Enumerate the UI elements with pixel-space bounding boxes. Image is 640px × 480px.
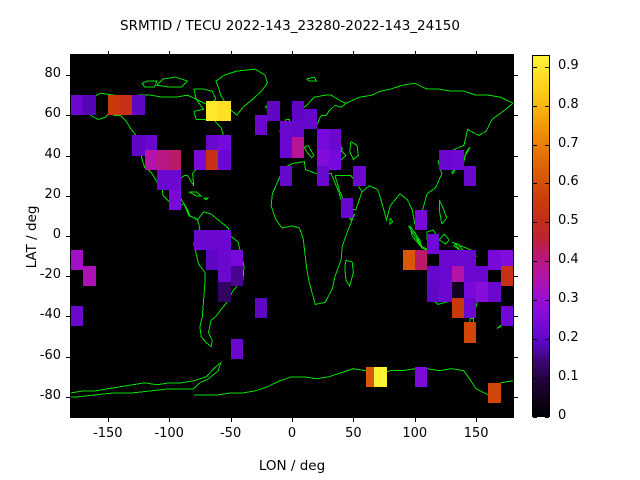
- heatmap-cell: [218, 150, 230, 170]
- heatmap-cell: [71, 95, 83, 115]
- heatmap-cell: [255, 298, 267, 318]
- x-tick-label: -100: [139, 426, 199, 441]
- x-tick-top: [169, 51, 170, 55]
- heatmap-cell: [415, 210, 427, 230]
- heatmap-cell: [464, 322, 476, 342]
- heatmap-cell: [280, 166, 292, 186]
- heatmap-cell: [304, 109, 316, 129]
- heatmap-cell: [157, 170, 169, 190]
- heatmap-cell: [194, 150, 206, 170]
- colorbar-tick-label: 0.2: [558, 330, 579, 345]
- colorbar-tick: [545, 339, 549, 340]
- heatmap-cells-layer: [71, 55, 513, 417]
- y-axis-label: LAT / deg: [24, 137, 40, 337]
- heatmap-cell: [132, 95, 144, 115]
- colorbar-tick: [533, 417, 537, 418]
- x-tick-label: 0: [262, 426, 322, 441]
- colorbar-tick-label: 0.4: [558, 252, 579, 267]
- heatmap-cell: [83, 266, 95, 286]
- colorbar-tick: [533, 300, 537, 301]
- heatmap-cell: [267, 101, 279, 121]
- y-tick-right: [514, 397, 518, 398]
- colorbar-tick: [545, 145, 549, 146]
- colorbar-tick: [545, 261, 549, 262]
- map-plot-area[interactable]: [71, 55, 513, 417]
- heatmap-cell: [71, 306, 83, 326]
- axis-spine-left: [70, 54, 71, 418]
- heatmap-cell: [231, 339, 243, 359]
- x-tick: [169, 418, 170, 422]
- colorbar-tick: [545, 378, 549, 379]
- y-tick: [66, 196, 70, 197]
- heatmap-cell: [329, 129, 341, 149]
- x-tick-label: 100: [385, 426, 445, 441]
- heatmap-cell: [317, 166, 329, 186]
- heatmap-cell: [501, 266, 513, 286]
- heatmap-cell: [427, 234, 439, 254]
- heatmap-cell: [415, 250, 427, 270]
- x-tick-label: -150: [78, 426, 138, 441]
- x-tick-top: [231, 51, 232, 55]
- heatmap-cell: [169, 150, 181, 170]
- heatmap-cell: [476, 282, 488, 302]
- x-tick-label: -50: [201, 426, 261, 441]
- heatmap-cell: [374, 367, 386, 387]
- x-tick: [476, 418, 477, 422]
- colorbar-tick-label: 0.7: [558, 136, 579, 151]
- y-tick-right: [514, 236, 518, 237]
- heatmap-cell: [464, 166, 476, 186]
- heatmap-cell: [169, 170, 181, 190]
- colorbar-tick-label: 0.1: [558, 369, 579, 384]
- heatmap-cell: [292, 137, 304, 157]
- colorbar-tick-label: 0.3: [558, 291, 579, 306]
- colorbar-tick: [533, 378, 537, 379]
- heatmap-cell: [439, 282, 451, 302]
- colorbar-tick-label: 0.6: [558, 174, 579, 189]
- colorbar-tick-label: 0.5: [558, 213, 579, 228]
- y-tick: [66, 276, 70, 277]
- x-tick-top: [108, 51, 109, 55]
- heatmap-cell: [464, 298, 476, 318]
- colorbar-tick: [533, 261, 537, 262]
- y-tick-right: [514, 75, 518, 76]
- heatmap-cell: [341, 198, 353, 218]
- colorbar-tick: [533, 145, 537, 146]
- heatmap-cell: [169, 190, 181, 210]
- y-tick-right: [514, 316, 518, 317]
- x-tick-label: 50: [323, 426, 383, 441]
- colorbar-tick: [545, 183, 549, 184]
- colorbar-tick: [545, 222, 549, 223]
- colorbar-tick: [533, 106, 537, 107]
- x-tick-top: [353, 51, 354, 55]
- heatmap-cell: [157, 150, 169, 170]
- y-tick-right: [514, 196, 518, 197]
- heatmap-cell: [292, 101, 304, 121]
- y-tick: [66, 115, 70, 116]
- colorbar-tick: [545, 417, 549, 418]
- y-tick: [66, 75, 70, 76]
- x-tick: [415, 418, 416, 422]
- y-tick: [66, 357, 70, 358]
- heatmap-cell: [488, 250, 500, 270]
- heatmap-cell: [501, 306, 513, 326]
- heatmap-cell: [452, 298, 464, 318]
- heatmap-cell: [194, 230, 206, 250]
- x-tick-top: [476, 51, 477, 55]
- y-tick-right: [514, 115, 518, 116]
- heatmap-cell: [83, 95, 95, 115]
- x-tick: [353, 418, 354, 422]
- x-tick-label: 150: [446, 426, 506, 441]
- y-tick-right: [514, 357, 518, 358]
- y-tick: [66, 156, 70, 157]
- heatmap-cell: [206, 230, 218, 250]
- heatmap-cell: [218, 101, 230, 121]
- heatmap-cell: [145, 150, 157, 170]
- colorbar-tick: [545, 67, 549, 68]
- heatmap-cell: [231, 266, 243, 286]
- y-tick-right: [514, 276, 518, 277]
- colorbar-tick-label: 0.8: [558, 97, 579, 112]
- y-tick-label: -60: [13, 348, 61, 363]
- colorbar-tick: [545, 300, 549, 301]
- colorbar-tick-label: 0: [558, 408, 566, 423]
- heatmap-cell: [218, 230, 230, 250]
- colorbar-tick: [533, 183, 537, 184]
- heatmap-cell: [206, 150, 218, 170]
- heatmap-cell: [206, 250, 218, 270]
- y-tick: [66, 397, 70, 398]
- heatmap-cell: [218, 282, 230, 302]
- heatmap-cell: [132, 135, 144, 155]
- heatmap-cell: [353, 166, 365, 186]
- colorbar-tick: [545, 106, 549, 107]
- heatmap-cell: [415, 367, 427, 387]
- x-tick-top: [292, 51, 293, 55]
- figure-canvas: SRMTID / TECU 2022-143_23280-2022-143_24…: [0, 0, 640, 480]
- x-tick: [108, 418, 109, 422]
- chart-title: SRMTID / TECU 2022-143_23280-2022-143_24…: [0, 18, 580, 34]
- heatmap-cell: [108, 95, 120, 115]
- heatmap-cell: [206, 101, 218, 121]
- y-tick-label: 60: [13, 106, 61, 121]
- colorbar[interactable]: [532, 55, 550, 417]
- x-tick: [292, 418, 293, 422]
- y-tick: [66, 316, 70, 317]
- heatmap-cell: [488, 282, 500, 302]
- colorbar-tick: [533, 339, 537, 340]
- y-tick: [66, 236, 70, 237]
- y-tick-right: [514, 156, 518, 157]
- heatmap-cell: [403, 250, 415, 270]
- heatmap-cell: [255, 115, 267, 135]
- x-axis-label: LON / deg: [71, 458, 513, 474]
- colorbar-tick-label: 0.9: [558, 58, 579, 73]
- y-tick-label: -80: [13, 388, 61, 403]
- x-tick: [231, 418, 232, 422]
- x-tick-top: [415, 51, 416, 55]
- heatmap-cell: [439, 150, 451, 170]
- y-tick-label: 80: [13, 66, 61, 81]
- heatmap-cell: [329, 150, 341, 170]
- heatmap-cell: [488, 383, 500, 403]
- heatmap-cell: [120, 95, 132, 115]
- heatmap-cell: [452, 150, 464, 170]
- colorbar-gradient: [532, 55, 550, 417]
- colorbar-tick: [533, 222, 537, 223]
- heatmap-cell: [71, 250, 83, 270]
- colorbar-tick: [533, 67, 537, 68]
- heatmap-cell: [427, 282, 439, 302]
- heatmap-cell: [317, 129, 329, 149]
- heatmap-cell: [280, 137, 292, 157]
